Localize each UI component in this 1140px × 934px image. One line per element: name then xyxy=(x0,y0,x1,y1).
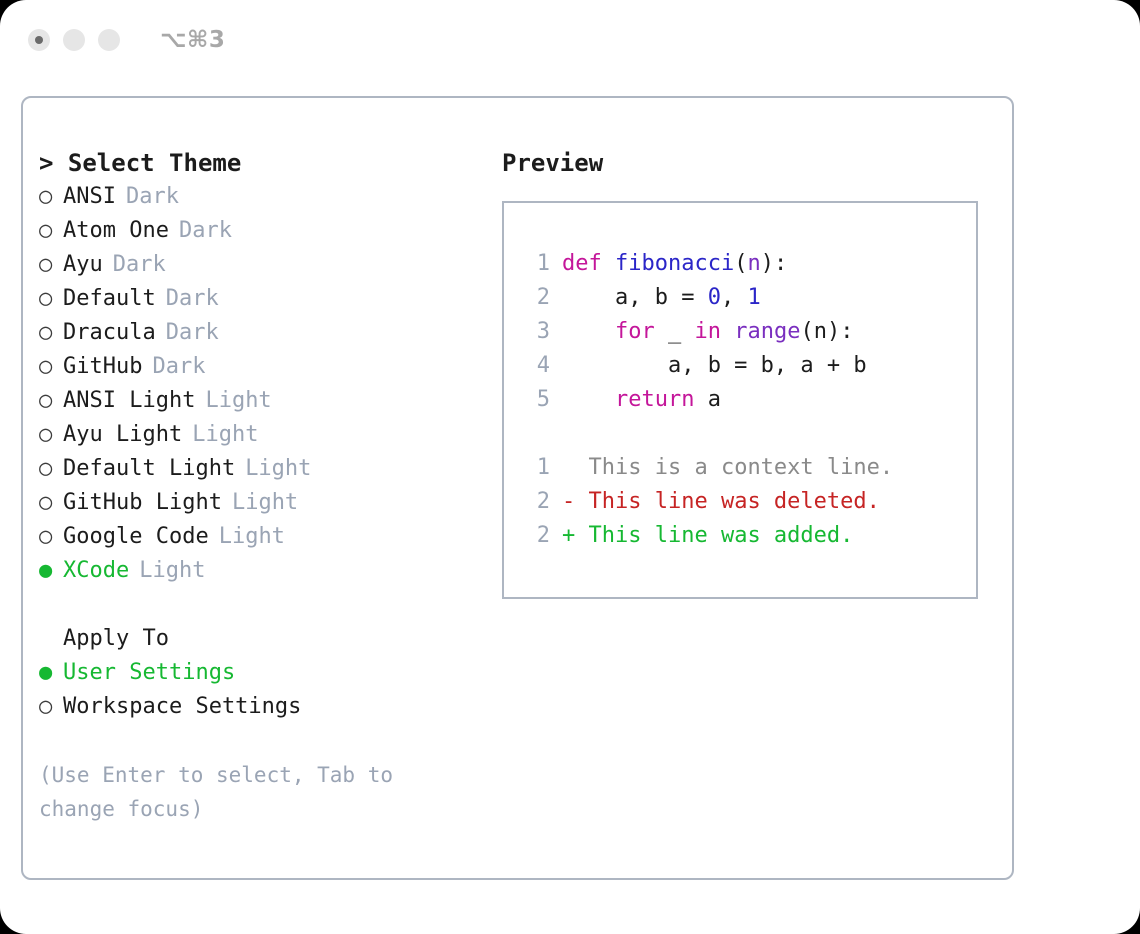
code-token-param: n xyxy=(747,251,760,276)
code-token-plain: a xyxy=(694,387,721,412)
theme-list-item[interactable]: ○DraculaDark xyxy=(39,316,479,350)
code-line-number: 4 xyxy=(520,349,550,383)
theme-kind-label: Dark xyxy=(166,282,219,316)
radio-unselected-icon: ○ xyxy=(39,520,63,554)
keyboard-hint-text: (Use Enter to select, Tab to change focu… xyxy=(39,758,439,826)
theme-kind-label: Light xyxy=(205,384,271,418)
preview-heading: Preview xyxy=(502,146,992,180)
theme-kind-label: Light xyxy=(139,554,205,588)
theme-list-item[interactable]: ○ANSI LightLight xyxy=(39,384,479,418)
apply-to-list[interactable]: ●User Settings○Workspace Settings xyxy=(39,656,479,724)
code-token-plain: _ xyxy=(655,319,695,344)
active-dot-icon xyxy=(35,36,43,44)
theme-list-item[interactable]: ○Atom OneDark xyxy=(39,214,479,248)
diff-line: 2+ This line was added. xyxy=(520,519,976,553)
diff-sample: 1 This is a context line.2- This line wa… xyxy=(520,451,976,553)
theme-kind-label: Dark xyxy=(179,214,232,248)
diff-line-content: This is a context line. xyxy=(562,451,893,485)
radio-unselected-icon: ○ xyxy=(39,282,63,316)
diff-line-number: 2 xyxy=(520,519,550,553)
code-line: 1def fibonacci(n): xyxy=(520,247,976,281)
diff-line: 1 This is a context line. xyxy=(520,451,976,485)
select-theme-heading: > Select Theme xyxy=(39,146,479,180)
diff-text: This line was added. xyxy=(589,523,854,548)
code-token-plain xyxy=(562,387,615,412)
radio-unselected-icon: ○ xyxy=(39,486,63,520)
theme-name: Ayu xyxy=(63,248,103,282)
code-line-content: return a xyxy=(562,383,721,417)
code-token-plain xyxy=(721,319,734,344)
terminal-window: ⌥⌘3 > Select Theme ○ANSIDark○Atom OneDar… xyxy=(0,0,1140,934)
apply-to-heading: Apply To xyxy=(39,622,479,656)
code-line-content: a, b = b, a + b xyxy=(562,349,867,383)
code-token-plain: (n): xyxy=(800,319,853,344)
theme-kind-label: Light xyxy=(245,452,311,486)
theme-list-item[interactable]: ●XCodeLight xyxy=(39,554,479,588)
code-line-number: 2 xyxy=(520,281,550,315)
theme-name: Default xyxy=(63,282,156,316)
theme-list-item[interactable]: ○AyuDark xyxy=(39,248,479,282)
code-line-number: 1 xyxy=(520,247,550,281)
code-token-plain: a, b = xyxy=(562,285,708,310)
code-diff-separator xyxy=(520,417,976,451)
theme-name: XCode xyxy=(63,554,129,588)
theme-name: Default Light xyxy=(63,452,235,486)
minimize-button[interactable] xyxy=(63,29,85,51)
radio-unselected-icon: ○ xyxy=(39,248,63,282)
diff-line-content: + This line was added. xyxy=(562,519,853,553)
code-token-builtin: range xyxy=(734,319,800,344)
maximize-button[interactable] xyxy=(98,29,120,51)
list-spacer xyxy=(39,588,479,622)
theme-list-item[interactable]: ○Default LightLight xyxy=(39,452,479,486)
theme-list-item[interactable]: ○GitHub LightLight xyxy=(39,486,479,520)
code-token-kw: return xyxy=(615,387,694,412)
code-line-number: 5 xyxy=(520,383,550,417)
theme-kind-label: Dark xyxy=(166,316,219,350)
diff-line-content: - This line was deleted. xyxy=(562,485,880,519)
code-token-num: 1 xyxy=(747,285,760,310)
apply-to-option[interactable]: ○Workspace Settings xyxy=(39,690,479,724)
diff-text: This is a context line. xyxy=(589,455,894,480)
theme-kind-label: Dark xyxy=(126,180,179,214)
code-token-plain: ): xyxy=(761,251,788,276)
code-line: 4 a, b = b, a + b xyxy=(520,349,976,383)
radio-selected-icon: ● xyxy=(39,554,63,588)
radio-unselected-icon: ○ xyxy=(39,690,63,724)
code-token-plain xyxy=(562,319,615,344)
window-titlebar: ⌥⌘3 xyxy=(0,0,1140,80)
radio-unselected-icon: ○ xyxy=(39,180,63,214)
radio-unselected-icon: ○ xyxy=(39,316,63,350)
code-token-fn: fibonacci xyxy=(615,251,734,276)
theme-name: ANSI Light xyxy=(63,384,195,418)
code-sample: 1def fibonacci(n):2 a, b = 0, 13 for _ i… xyxy=(520,247,976,417)
apply-to-label: Workspace Settings xyxy=(63,690,301,724)
code-token-plain: a, b = b, a + b xyxy=(562,353,867,378)
theme-kind-label: Dark xyxy=(113,248,166,282)
theme-name: GitHub xyxy=(63,350,142,384)
theme-kind-label: Light xyxy=(192,418,258,452)
theme-picker-card: > Select Theme ○ANSIDark○Atom OneDark○Ay… xyxy=(21,96,1014,880)
apply-to-label: User Settings xyxy=(63,656,235,690)
code-line-content: for _ in range(n): xyxy=(562,315,853,349)
preview-panel: Preview 1def fibonacci(n):2 a, b = 0, 13… xyxy=(502,146,992,599)
diff-text: This line was deleted. xyxy=(589,489,880,514)
code-token-kw: in xyxy=(694,319,721,344)
theme-name: GitHub Light xyxy=(63,486,222,520)
diff-marker: - xyxy=(562,489,589,514)
code-line: 2 a, b = 0, 1 xyxy=(520,281,976,315)
code-token-num: 0 xyxy=(708,285,721,310)
radio-unselected-icon: ○ xyxy=(39,384,63,418)
keyboard-shortcut-label: ⌥⌘3 xyxy=(160,27,225,53)
code-token-plain: , xyxy=(721,285,748,310)
diff-marker: + xyxy=(562,523,589,548)
diff-line-number: 1 xyxy=(520,451,550,485)
theme-name: Google Code xyxy=(63,520,209,554)
code-line-content: a, b = 0, 1 xyxy=(562,281,761,315)
code-token-kw: for xyxy=(615,319,655,344)
code-token-kw: def xyxy=(562,251,615,276)
code-line: 5 return a xyxy=(520,383,976,417)
theme-name: Ayu Light xyxy=(63,418,182,452)
radio-unselected-icon: ○ xyxy=(39,350,63,384)
window-controls xyxy=(28,29,120,51)
apply-to-option[interactable]: ●User Settings xyxy=(39,656,479,690)
diff-line: 2- This line was deleted. xyxy=(520,485,976,519)
theme-list-item[interactable]: ○ANSIDark xyxy=(39,180,479,214)
theme-list-item[interactable]: ○GitHubDark xyxy=(39,350,479,384)
radio-unselected-icon: ○ xyxy=(39,452,63,486)
theme-name: ANSI xyxy=(63,180,116,214)
theme-list[interactable]: ○ANSIDark○Atom OneDark○AyuDark○DefaultDa… xyxy=(39,180,479,588)
preview-box: 1def fibonacci(n):2 a, b = 0, 13 for _ i… xyxy=(502,201,978,599)
close-button[interactable] xyxy=(28,29,50,51)
theme-kind-label: Light xyxy=(219,520,285,554)
diff-line-number: 2 xyxy=(520,485,550,519)
radio-unselected-icon: ○ xyxy=(39,214,63,248)
select-theme-panel: > Select Theme ○ANSIDark○Atom OneDark○Ay… xyxy=(39,146,479,826)
theme-name: Atom One xyxy=(63,214,169,248)
code-token-plain: ( xyxy=(734,251,747,276)
theme-kind-label: Dark xyxy=(152,350,205,384)
theme-list-item[interactable]: ○DefaultDark xyxy=(39,282,479,316)
code-line: 3 for _ in range(n): xyxy=(520,315,976,349)
theme-list-item[interactable]: ○Google CodeLight xyxy=(39,520,479,554)
theme-list-item[interactable]: ○Ayu LightLight xyxy=(39,418,479,452)
radio-unselected-icon: ○ xyxy=(39,418,63,452)
theme-name: Dracula xyxy=(63,316,156,350)
theme-kind-label: Light xyxy=(232,486,298,520)
radio-selected-icon: ● xyxy=(39,656,63,690)
code-line-content: def fibonacci(n): xyxy=(562,247,787,281)
code-line-number: 3 xyxy=(520,315,550,349)
diff-marker xyxy=(562,455,589,480)
